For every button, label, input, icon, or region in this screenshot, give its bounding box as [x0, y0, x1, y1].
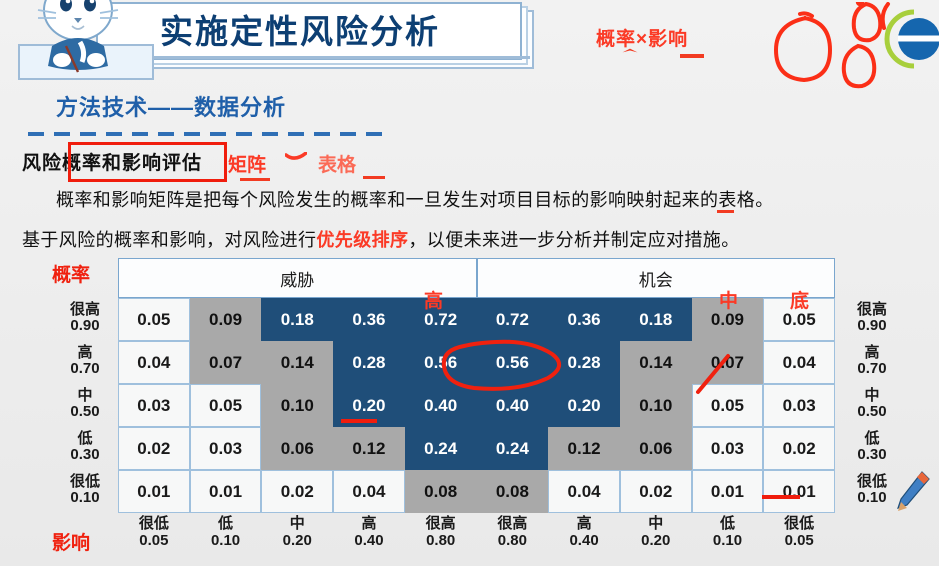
matrix-cell-r1-c3: 0.28 [333, 341, 405, 384]
matrix-cell-r3-c1: 0.03 [190, 427, 262, 470]
matrix-row: 0.020.030.060.120.240.240.120.060.030.02 [118, 427, 835, 470]
row-label-right-1: 高0.70 [843, 339, 901, 382]
section-subtitle: 方法技术——数据分析 [56, 90, 286, 122]
pencil-icon [895, 470, 931, 514]
annotation-formula: 概率×影响 [596, 24, 688, 51]
row-label-left-1: 高0.70 [56, 339, 114, 382]
matrix-cell-r2-c4: 0.40 [405, 384, 477, 427]
col-label-value: 0.05 [785, 533, 814, 550]
row-label-name: 中 [77, 388, 92, 404]
matrix-cell-r4-c7: 0.02 [620, 470, 692, 513]
matrix-cell-r0-c5: 0.72 [477, 298, 549, 341]
dashed-divider [28, 132, 388, 136]
row-label-right-0: 很高0.90 [843, 296, 901, 339]
cat-writing-icon [22, 0, 142, 76]
matrix-cell-r2-c8: 0.05 [692, 384, 764, 427]
annotation-underline-1 [680, 54, 704, 58]
col-label-value: 0.05 [139, 533, 168, 550]
row-label-value: 0.30 [857, 447, 886, 463]
col-label-name: 中 [648, 516, 663, 533]
matrix-cell-r2-c7: 0.10 [620, 384, 692, 427]
row-label-left-3: 低0.30 [56, 425, 114, 468]
matrix-cell-r1-c9: 0.04 [763, 341, 835, 384]
row-label-right-2: 中0.50 [843, 382, 901, 425]
col-label-value: 0.10 [211, 533, 240, 550]
col-label-1: 低0.10 [190, 516, 262, 549]
row-label-left-2: 中0.50 [56, 382, 114, 425]
col-label-7: 中0.20 [620, 516, 692, 549]
col-label-name: 低 [720, 516, 735, 533]
matrix-cell-r3-c2: 0.06 [261, 427, 333, 470]
row-label-value: 0.50 [70, 404, 99, 420]
col-label-value: 0.40 [354, 533, 383, 550]
row-label-value: 0.10 [857, 490, 886, 506]
row-label-value: 0.70 [70, 361, 99, 377]
col-label-value: 0.40 [569, 533, 598, 550]
matrix-column-labels: 很低0.05低0.10中0.20高0.40很高0.80很高0.80高0.40中0… [118, 516, 835, 549]
col-label-value: 0.20 [283, 533, 312, 550]
matrix-cell-r0-c7: 0.18 [620, 298, 692, 341]
col-label-6: 高0.40 [548, 516, 620, 549]
row-label-value: 0.70 [857, 361, 886, 377]
col-label-name: 很低 [784, 516, 814, 533]
matrix-cell-r2-c6: 0.20 [548, 384, 620, 427]
matrix-cell-r2-c2: 0.10 [261, 384, 333, 427]
matrix-row-labels-left: 很高0.90高0.70中0.50低0.30很低0.10 [56, 296, 114, 511]
row-label-left-4: 很低0.10 [56, 468, 114, 511]
row-label-value: 0.50 [857, 404, 886, 420]
annotation-redbox [68, 142, 227, 182]
row-label-left-0: 很高0.90 [56, 296, 114, 339]
col-label-value: 0.80 [426, 533, 455, 550]
col-label-name: 很高 [497, 516, 527, 533]
col-label-4: 很高0.80 [405, 516, 477, 549]
matrix-cell-r4-c5: 0.08 [477, 470, 549, 513]
row-label-name: 中 [864, 388, 879, 404]
matrix-cell-r1-c0: 0.04 [118, 341, 190, 384]
col-label-name: 中 [290, 516, 305, 533]
paragraph2-post: ，以便未来进一步分析并制定应对措施。 [408, 230, 739, 250]
matrix-cell-r1-c6: 0.28 [548, 341, 620, 384]
paragraph2-pre: 基于风险的概率和影响，对风险进行 [22, 230, 316, 250]
col-label-0: 很低0.05 [118, 516, 190, 549]
matrix-cell-r4-c9: 0.01 [763, 470, 835, 513]
row-label-name: 低 [77, 431, 92, 447]
col-label-5: 很高0.80 [477, 516, 549, 549]
matrix-cell-r1-c2: 0.14 [261, 341, 333, 384]
col-label-9: 很低0.05 [763, 516, 835, 549]
annotation-table-label: 表格 [318, 150, 356, 177]
matrix-cell-r1-c8: 0.07 [692, 341, 764, 384]
annotation-col-medium: 中 [719, 286, 738, 313]
row-label-name: 很高 [70, 302, 100, 318]
matrix-cell-r3-c5: 0.24 [477, 427, 549, 470]
slide-canvas: 实施定性风险分析 方法技术——数据分析 概率×影响 风险概率和影响评估 矩阵 表… [0, 0, 939, 566]
matrix-cell-r3-c6: 0.12 [548, 427, 620, 470]
row-label-value: 0.10 [70, 490, 99, 506]
annotation-matrix-label: 矩阵 [228, 150, 266, 177]
matrix-row: 0.030.050.100.200.400.400.200.100.050.03 [118, 384, 835, 427]
matrix-cell-r4-c8: 0.01 [692, 470, 764, 513]
matrix-cell-r2-c3: 0.20 [333, 384, 405, 427]
row-label-name: 低 [864, 431, 879, 447]
matrix-row-labels-right: 很高0.90高0.70中0.50低0.30很低0.10 [843, 296, 901, 511]
col-label-value: 0.10 [713, 533, 742, 550]
col-label-3: 高0.40 [333, 516, 405, 549]
col-label-name: 很高 [426, 516, 456, 533]
annotation-underline-table [363, 176, 385, 179]
row-label-name: 很高 [857, 302, 887, 318]
body-paragraph-1: 概率和影响矩阵是把每个风险发生的概率和一旦发生对项目目标的影响映射起来的表格。 [56, 186, 774, 212]
matrix-cell-r4-c3: 0.04 [333, 470, 405, 513]
matrix-cell-r2-c0: 0.03 [118, 384, 190, 427]
page-title: 实施定性风险分析 [160, 8, 500, 56]
row-label-name: 高 [864, 345, 879, 361]
group-header-threats: 威胁 [118, 258, 477, 298]
annotation-col-low: 底 [790, 286, 809, 313]
row-label-name: 高 [77, 345, 92, 361]
matrix-cell-r1-c5: 0.56 [477, 341, 549, 384]
body-heading-wrap: 风险概率和影响评估 [22, 148, 202, 175]
group-header-opportunities: 机会 [477, 258, 836, 298]
row-label-right-4: 很低0.10 [843, 468, 901, 511]
matrix-cell-r3-c3: 0.12 [333, 427, 405, 470]
row-label-value: 0.90 [70, 318, 99, 334]
matrix-row: 0.010.010.020.040.080.080.040.020.010.01 [118, 470, 835, 513]
col-label-value: 0.20 [641, 533, 670, 550]
matrix-body: 0.050.090.180.360.720.720.360.180.090.05… [118, 298, 835, 513]
col-label-name: 高 [577, 516, 592, 533]
matrix-cell-r4-c2: 0.02 [261, 470, 333, 513]
col-label-name: 高 [361, 516, 376, 533]
brand-circle-icon [883, 8, 939, 70]
matrix-cell-r4-c0: 0.01 [118, 470, 190, 513]
matrix-cell-r3-c0: 0.02 [118, 427, 190, 470]
matrix-cell-r4-c6: 0.04 [548, 470, 620, 513]
paragraph2-highlight: 优先级排序 [316, 230, 408, 250]
row-label-name: 很低 [857, 474, 887, 490]
row-label-name: 很低 [70, 474, 100, 490]
matrix-cell-r1-c4: 0.56 [405, 341, 477, 384]
matrix-cell-r2-c5: 0.40 [477, 384, 549, 427]
matrix-cell-r0-c2: 0.18 [261, 298, 333, 341]
matrix-cell-r0-c0: 0.05 [118, 298, 190, 341]
axis-label-impact: 影响 [52, 528, 90, 555]
matrix-cell-r0-c1: 0.09 [190, 298, 262, 341]
matrix-row: 0.040.070.140.280.560.560.280.140.070.04 [118, 341, 835, 384]
matrix-cell-r3-c7: 0.06 [620, 427, 692, 470]
annotation-col-high: 高 [424, 286, 443, 313]
col-label-name: 低 [218, 516, 233, 533]
col-label-name: 很低 [139, 516, 169, 533]
matrix-cell-r0-c6: 0.36 [548, 298, 620, 341]
col-label-value: 0.80 [498, 533, 527, 550]
matrix-cell-r3-c9: 0.02 [763, 427, 835, 470]
matrix-cell-r3-c8: 0.03 [692, 427, 764, 470]
matrix-cell-r3-c4: 0.24 [405, 427, 477, 470]
annotation-check-icon [285, 152, 307, 162]
col-label-8: 低0.10 [692, 516, 764, 549]
row-label-value: 0.30 [70, 447, 99, 463]
body-paragraph-2: 基于风险的概率和影响，对风险进行优先级排序，以便未来进一步分析并制定应对措施。 [22, 226, 740, 252]
matrix-cell-r4-c1: 0.01 [190, 470, 262, 513]
row-label-right-3: 低0.30 [843, 425, 901, 468]
row-label-value: 0.90 [857, 318, 886, 334]
annotation-underline-matrix [240, 178, 270, 181]
matrix-cell-r1-c7: 0.14 [620, 341, 692, 384]
col-label-2: 中0.20 [261, 516, 333, 549]
matrix-cell-r1-c1: 0.07 [190, 341, 262, 384]
matrix-cell-r2-c1: 0.05 [190, 384, 262, 427]
matrix-cell-r2-c9: 0.03 [763, 384, 835, 427]
matrix-cell-r4-c4: 0.08 [405, 470, 477, 513]
banner-underline [140, 56, 530, 59]
axis-label-probability: 概率 [52, 260, 90, 287]
matrix-cell-r0-c3: 0.36 [333, 298, 405, 341]
